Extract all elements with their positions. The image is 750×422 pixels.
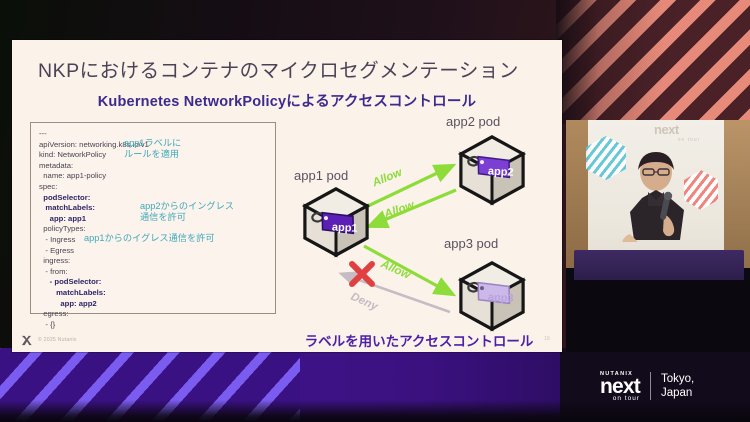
annotation-ingress: app2からのイングレス 通信を許可 [140, 201, 234, 223]
diagram-caption: ラベルを用いたアクセスコントロール [282, 330, 556, 350]
brand-next-block: NUTANIX next on tour [600, 371, 640, 402]
pod-cube-app1: app1 [300, 186, 372, 258]
yaml-line: matchLabels: [39, 288, 267, 299]
brand-city-line2: Japan [661, 386, 694, 400]
backdrop-left-wall [566, 120, 588, 268]
pod-cube-app3: app3 [456, 260, 528, 332]
yaml-line: app: app2 [39, 299, 267, 310]
svg-text:app1: app1 [332, 221, 358, 234]
network-policy-diagram: Allow Allow Allow Deny app1 pod app2 pod… [280, 114, 558, 352]
annotation-pod-selector: app1ラベルに ルールを適用 [124, 138, 181, 160]
svg-text:app3: app3 [488, 291, 514, 304]
yaml-line: - Egress [39, 246, 267, 257]
yaml-line: name: app1-policy [39, 171, 267, 182]
yaml-line: egress: [39, 309, 267, 320]
slide-subtitle: Kubernetes NetworkPolicyによるアクセスコントロール [12, 90, 562, 111]
video-lower-dark-area [566, 280, 750, 352]
pod-cube-app2: app2 [456, 134, 528, 206]
pod-label-app3: app3 pod [444, 236, 498, 251]
yaml-line: - podSelector: [39, 277, 267, 288]
backdrop-right-wall [724, 120, 750, 268]
yaml-line: - {} [39, 320, 267, 331]
slide-page-number: 19 [544, 336, 550, 342]
podium [574, 250, 744, 282]
slide-copyright: © 2025 Nutanix [38, 337, 77, 343]
yaml-line: ingress: [39, 256, 267, 267]
slide-title: NKPにおけるコンテナのマイクロセグメンテーション [38, 54, 519, 83]
speaker-video-panel[interactable]: next on tour [566, 120, 750, 352]
brand-city-line1: Tokyo, [661, 372, 694, 386]
annotation-egress: app1からのイグレス通信を許可 [84, 233, 215, 244]
svg-text:app2: app2 [488, 165, 514, 178]
pod-label-app2: app2 pod [446, 114, 500, 129]
top-stripe-decoration [556, 0, 750, 124]
nutanix-x-icon [21, 335, 32, 346]
yaml-line: spec: [39, 182, 267, 193]
yaml-line: - from: [39, 267, 267, 278]
backdrop-next-logo: next on tour [654, 122, 724, 144]
backdrop-logo-text: next [654, 122, 679, 137]
brand-divider [650, 372, 651, 400]
brand-next-wordmark: next [600, 378, 640, 396]
brand-city-block: Tokyo, Japan [661, 372, 694, 400]
backdrop-logo-sub: on tour [654, 137, 724, 143]
screen-capture: NKPにおけるコンテナのマイクロセグメンテーション Kubernetes Net… [0, 0, 750, 422]
pod-label-app1: app1 pod [294, 168, 348, 183]
yaml-line: metadata: [39, 161, 267, 172]
presenter-icon [614, 148, 698, 260]
presentation-slide: NKPにおけるコンテナのマイクロセグメンテーション Kubernetes Net… [12, 40, 562, 352]
event-brand-lockup: NUTANIX next on tour Tokyo, Japan [600, 364, 740, 408]
